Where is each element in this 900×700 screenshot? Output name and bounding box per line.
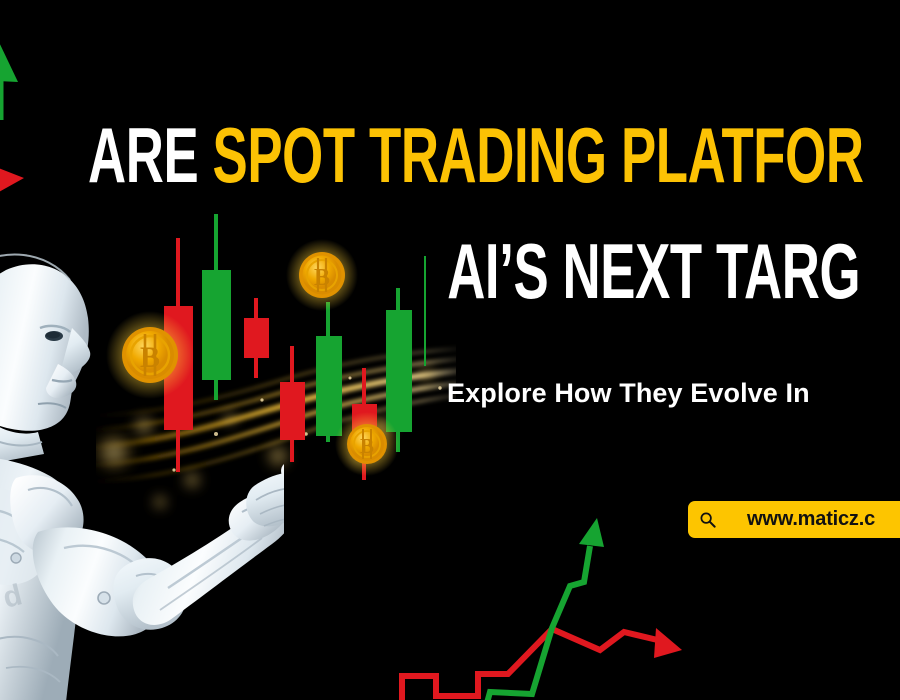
down-arrow-red-icon bbox=[0, 148, 24, 198]
subtitle: Explore How They Evolve In bbox=[447, 378, 810, 409]
headline-line-2: AI’S NEXT TARG bbox=[88, 227, 872, 314]
website-url-text: www.maticz.c bbox=[747, 508, 875, 531]
bitcoin-coin: B bbox=[335, 412, 399, 476]
corner-arrows-graphic bbox=[0, 10, 100, 210]
up-arrow-green-icon bbox=[0, 40, 18, 120]
headline-part-spot-trading: SPOT TRADING PLATFOR bbox=[213, 111, 864, 198]
candle-5 bbox=[316, 302, 342, 442]
headline-line-1: ARE SPOT TRADING PLATFOR bbox=[88, 111, 872, 198]
robot-hand bbox=[246, 443, 284, 526]
marketing-banner: B B B bbox=[0, 0, 900, 700]
bottom-trend-chart bbox=[380, 500, 720, 700]
headline-part-are: ARE bbox=[88, 111, 213, 198]
uptrend-arrowhead-green bbox=[579, 518, 604, 547]
headline-part-ai-next-target: AI’S NEXT TARG bbox=[447, 227, 860, 314]
website-url-badge[interactable]: www.maticz.c bbox=[688, 501, 900, 538]
downtrend-arrowhead-red bbox=[654, 628, 682, 658]
headline: ARE SPOT TRADING PLATFOR AI’S NEXT TARG bbox=[88, 118, 900, 308]
search-icon bbox=[699, 511, 716, 528]
robot-head bbox=[0, 254, 90, 430]
